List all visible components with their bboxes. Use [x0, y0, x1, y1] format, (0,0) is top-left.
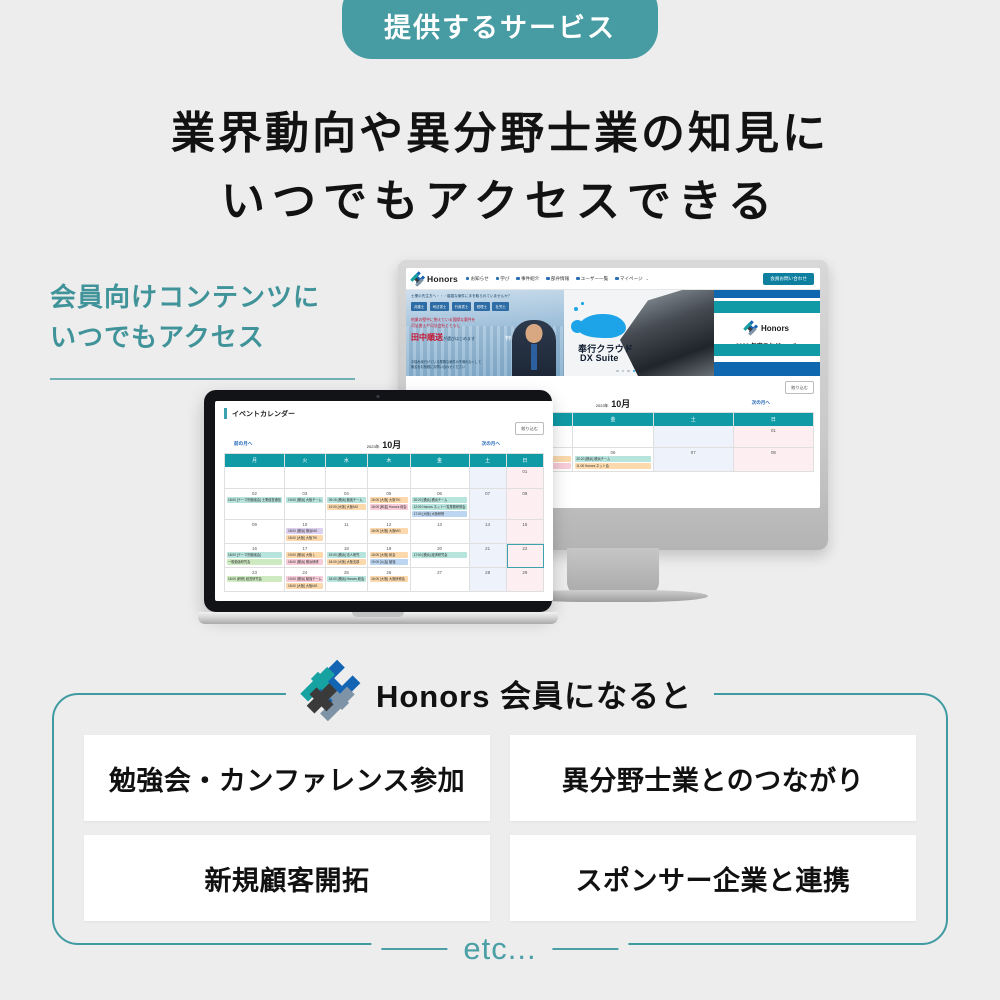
calendar-day-cell[interactable]: 1018:00 [横浜] 横浜MG18:00 [大阪] 大阪TKI	[285, 520, 326, 544]
kabuki-figure-photo	[620, 290, 714, 376]
webcam-icon	[377, 395, 380, 398]
calendar-day-cell[interactable]: 0620:20 [横浜] 横浜チーム12:00 Honors ネット一覧業務研修…	[411, 489, 470, 520]
calendar-day-number: 17	[286, 546, 323, 551]
membership-title-text: Honors 会員になると	[376, 671, 692, 716]
calendar-day-number: 21	[471, 546, 504, 551]
calendar-day-cell[interactable]: 07	[654, 448, 734, 472]
carousel-dots[interactable]	[616, 370, 635, 373]
calendar-event-chip[interactable]: 18:00 [大阪] 大阪支部	[327, 559, 365, 565]
calendar-day-cell[interactable]: 0319:00 [横浜] 大阪チーム	[285, 489, 326, 520]
calendar-day-cell[interactable]: 22	[507, 544, 544, 568]
cloud-logo-icon	[578, 314, 626, 338]
calendar-day-number: 28	[471, 570, 504, 575]
calendar-day-cell[interactable]: 13	[411, 520, 470, 544]
hero-panel-schedule[interactable]: Honors 2023 年度スケジュール	[714, 290, 820, 376]
calendar-event-chip[interactable]: 18:00 [テーマ別勉強会] 士業経営通信	[227, 497, 283, 503]
band-blue-top	[714, 290, 820, 298]
calendar-day-cell[interactable]: 2518:00 [横浜] Honors 総会	[326, 568, 368, 592]
calendar-day-cell[interactable]	[326, 467, 368, 489]
calendar-weekday-header: 土	[654, 413, 734, 426]
membership-heading: Honors 会員になると	[286, 668, 714, 718]
calendar-day-number: 02	[227, 491, 283, 496]
calendar-day-cell[interactable]: 0218:00 [テーマ別勉強会] 士業経営通信	[225, 489, 285, 520]
hero-panel-ad[interactable]: 奉行クラウド DX Suite	[564, 290, 714, 376]
hero-left-lead: 士業の先生方へ・・・複雑な案件に手を取られていませんか？	[411, 294, 511, 299]
calendar-weekday-header: 月	[225, 454, 285, 467]
chevron-down-icon: ⌄	[646, 276, 649, 281]
contact-button[interactable]: 会員お問い合わせ	[763, 273, 814, 285]
calendar-weekday-header: 日	[507, 454, 544, 467]
calendar-day-number: 15	[508, 522, 541, 527]
calendar-nav: 前の月へ 2023年 10月 次の月へ	[224, 438, 544, 450]
calendar-weekday-header: 水	[326, 454, 368, 467]
headline-line-1: 業界動向や異分野士業の知見に	[0, 100, 1000, 168]
calendar-month-label: 2023年 10月	[596, 397, 630, 410]
calendar-event-chip[interactable]: 17:00 [横浜] 経済研究会	[412, 552, 467, 558]
calendar-day-number: 16	[227, 546, 283, 551]
calendar-day-cell[interactable]	[654, 426, 734, 448]
laptop-notch	[352, 612, 404, 617]
calendar-month-label: 2023年 10月	[367, 438, 401, 451]
calendar-day-cell[interactable]: 2017:00 [横浜] 経済研究会	[411, 544, 470, 568]
calendar-day-cell[interactable]: 1218:00 [大阪] 大阪MG	[368, 520, 410, 544]
heading-accent-bar	[224, 408, 227, 419]
ad-title-line-2: DX Suite	[580, 353, 619, 363]
calendar-day-number: 06	[412, 491, 467, 496]
cloud-bubble-icon	[574, 307, 578, 311]
calendar-day-number: 09	[227, 522, 283, 527]
calendar-day-cell[interactable]	[470, 467, 507, 489]
calendar-weekday-header: 金	[411, 454, 470, 467]
calendar-day-cell[interactable]	[411, 467, 470, 489]
band-teal-top	[714, 301, 820, 313]
tag-sharoushi[interactable]: 社労士	[492, 302, 508, 311]
membership-benefits: 勉強会・カンファレンス参加 異分野士業とのつながり 新規顧客開拓 スポンサー企業…	[84, 735, 916, 921]
calendar-event-chip[interactable]: 18:00 [テーマ別勉強会]	[227, 552, 283, 558]
tag-bengoshi[interactable]: 弁護士	[411, 302, 427, 311]
page-title: 業界動向や異分野士業の知見に いつでもアクセスできる	[0, 100, 1000, 236]
laptop-calendar: 絞り込む 前の月へ 2023年 10月 次の月へ 月火水木金土日010218:0…	[215, 419, 553, 592]
honors-logo-icon	[745, 322, 757, 334]
calendar-event-chip[interactable]: 18:00 [大阪] 大阪研修会	[370, 576, 408, 582]
calendar-day-number: 10	[286, 522, 323, 527]
calendar-day-number: 25	[327, 570, 365, 575]
calendar-toolbar: 絞り込む	[224, 422, 544, 435]
calendar-day-cell[interactable]: 14	[470, 520, 507, 544]
honors-logo-icon	[308, 668, 362, 718]
calendar-day-cell[interactable]: 2419:00 [横浜] 勉強チーム18:00 [大阪] 大阪MG	[285, 568, 326, 592]
calendar-event-chip[interactable]: 18:00 [大阪] 総会	[370, 552, 408, 558]
nav-item-info[interactable]: 部弁情報	[546, 276, 569, 282]
calendar-day-cell[interactable]	[573, 426, 653, 448]
calendar-day-number: 20	[412, 546, 467, 551]
calendar-day-cell[interactable]: 1618:00 [テーマ別勉強会]一般勉強研究会	[225, 544, 285, 568]
benefit-card[interactable]: 勉強会・カンファレンス参加	[84, 735, 490, 821]
hero-row: 士業の先生方へ・・・複雑な案件に手を取られていませんか？ 弁護士 司法書士 行政…	[406, 290, 820, 376]
calendar-event-chip[interactable]: 19:00 [大阪] 大阪MG	[327, 504, 365, 510]
calendar-day-cell[interactable]: 08	[734, 448, 814, 472]
calendar-day-cell[interactable]: 2618:00 [大阪] 大阪研修会	[368, 568, 410, 592]
calendar-day-number: 24	[286, 570, 323, 575]
band-teal-bottom	[714, 344, 820, 356]
hero-left-footnote: お悩み深行けている業務な案件の不満れなくして 無名をお気軽にお問い合わせください	[411, 360, 481, 370]
calendar-day-cell[interactable]	[368, 467, 410, 489]
calendar-event-chip[interactable]: 18:00 [研修] 経営研究会	[227, 576, 283, 582]
calendar-day-cell[interactable]: 08	[507, 489, 544, 520]
site-logo[interactable]: Honors	[412, 273, 458, 285]
calendar-day-number: 01	[508, 469, 541, 474]
calendar-day-number: 19	[370, 546, 408, 551]
calendar-day-number: 23	[227, 570, 283, 575]
calendar-event-chip[interactable]: 18:00 [横浜] Honors 総会	[327, 576, 365, 582]
event-calendar-title: イベントカレンダー	[232, 409, 295, 419]
membership-brand: Honors	[376, 679, 491, 714]
calendar-day-number: 08	[735, 450, 811, 455]
etc-footer: etc...	[371, 927, 628, 971]
headline-line-2: いつでもアクセスできる	[0, 168, 1000, 236]
calendar-day-cell[interactable]: 28	[470, 568, 507, 592]
calendar-weekday-header: 土	[470, 454, 507, 467]
filter-button[interactable]: 絞り込む	[785, 381, 814, 394]
calendar-day-cell[interactable]: 09	[225, 520, 285, 544]
hero-left-red-text: 他業の壁中に抱えている国際な案件を 司法書士や司法会社とともに	[411, 318, 475, 329]
tag-shihoshoshi[interactable]: 司法書士	[430, 302, 450, 311]
calendar-event-chip[interactable]: 18:00 [大阪] 大阪TKI	[286, 535, 323, 541]
benefit-card[interactable]: 異分野士業とのつながり	[510, 735, 916, 821]
prev-month-link[interactable]: 前の月へ	[234, 441, 252, 447]
calendar-day-cell[interactable]: 01	[507, 467, 544, 489]
monitor-stand-neck	[567, 548, 659, 596]
calendar-event-chip[interactable]: 20:20 [横浜] 横浜チーム	[412, 497, 467, 503]
calendar-day-cell[interactable]: 1918:00 [大阪] 総会19:00 [公会] 勉強	[368, 544, 410, 568]
calendar-day-number: 06	[575, 450, 651, 455]
cloud-bubble-small-icon	[581, 302, 584, 305]
calendar-day-cell[interactable]: 15	[507, 520, 544, 544]
calendar-day-cell[interactable]	[285, 467, 326, 489]
device-mockups: Honors お知らせ 学び 事件紹介 部弁情報 ユーザー一覧 マイページ⌄ 会…	[0, 250, 1000, 650]
nav-item-learn[interactable]: 学び	[496, 276, 510, 282]
calendar-day-number: 13	[412, 522, 467, 527]
calendar-event-chip[interactable]: 09:15 [横浜] 勉強チーム	[327, 497, 365, 503]
promo-page: 提供するサービス 業界動向や異分野士業の知見に いつでもアクセスできる 会員向け…	[0, 0, 1000, 1000]
calendar-weekday-header: 火	[285, 454, 326, 467]
etc-line-left	[381, 948, 447, 950]
calendar-event-chip[interactable]: 19:00 [横浜] 大阪し	[286, 552, 323, 558]
calendar-day-cell[interactable]: 2318:00 [研修] 経営研究会	[225, 568, 285, 592]
calendar-event-chip[interactable]: 19:00 [横浜] 大阪チーム	[286, 497, 323, 503]
calendar-day-number: 05	[370, 491, 408, 496]
calendar-weekday-header: 日	[734, 413, 814, 426]
calendar-day-cell[interactable]: 0620:20 [横浜] 横浜チーム11:00 Honors ネット会	[573, 448, 653, 472]
calendar-day-number: 11	[327, 522, 365, 527]
hero-panel-lawyers[interactable]: 士業の先生方へ・・・複雑な案件に手を取られていませんか？ 弁護士 司法書士 行政…	[406, 290, 564, 376]
hero-left-name: 田中順送が選びはじめます	[411, 332, 475, 343]
membership-title-suffix: 会員になると	[490, 679, 692, 714]
filter-button[interactable]: 絞り込む	[515, 422, 544, 435]
calendar-day-number: 22	[508, 546, 541, 551]
tag-zeirishi[interactable]: 税理士	[474, 302, 490, 311]
nav-item-cases[interactable]: 事件紹介	[516, 276, 539, 282]
calendar-day-number: 03	[286, 491, 323, 496]
calendar-day-number: 08	[508, 491, 541, 496]
laptop-screen: イベントカレンダー 絞り込む 前の月へ 2023年 10月 次の月へ	[215, 401, 553, 601]
nav-item-news[interactable]: お知らせ	[466, 276, 489, 282]
calendar-event-chip[interactable]: 18:00 [横浜] 横浜研修	[286, 559, 323, 565]
calendar-weekday-header: 金	[573, 413, 653, 426]
calendar-day-cell[interactable]: 1719:00 [横浜] 大阪し18:00 [横浜] 横浜研修	[285, 544, 326, 568]
nav-item-mypage[interactable]: マイページ⌄	[615, 276, 649, 282]
calendar-event-chip[interactable]: 12:00 Honors ネット一覧業務研修会	[412, 504, 467, 510]
tag-gyoseishoshi[interactable]: 行政書士	[452, 302, 472, 311]
calendar-day-number: 07	[655, 450, 731, 455]
calendar-event-chip[interactable]: 20:20 [横浜] 横浜チーム	[575, 456, 651, 462]
band-blue-bottom	[714, 362, 820, 376]
calendar-event-chip[interactable]: 18:00 [大阪] 大阪MG	[370, 528, 408, 534]
calendar-day-cell[interactable]	[225, 467, 285, 489]
calendar-day-cell[interactable]: 29	[507, 568, 544, 592]
calendar-event-chip[interactable]: 19:00 [横浜] 勉強チーム	[286, 576, 323, 582]
section-badge: 提供するサービス	[342, 0, 658, 59]
calendar-event-chip[interactable]: 17:00 [大阪] 大阪研修	[412, 511, 467, 517]
next-month-link[interactable]: 次の月へ	[752, 400, 770, 406]
calendar-day-number: 01	[735, 428, 811, 433]
benefit-card[interactable]: 新規顧客開拓	[84, 835, 490, 921]
calendar-day-cell[interactable]: 0409:15 [横浜] 勉強チーム19:00 [大阪] 大阪MG	[326, 489, 368, 520]
honors-logo-icon	[412, 273, 424, 285]
calendar-event-chip[interactable]: 11:00 Honors ネット会	[575, 463, 651, 469]
laptop: イベントカレンダー 絞り込む 前の月へ 2023年 10月 次の月へ	[198, 390, 558, 640]
calendar-event-chip[interactable]: 18:00 [横浜] 横浜MG	[286, 528, 323, 534]
schedule-logo-text: Honors	[761, 324, 789, 333]
calendar-day-cell[interactable]: 0518:00 [大阪] 大阪TKI18:00 [和金] Honors 総会	[368, 489, 410, 520]
calendar-day-number: 04	[327, 491, 365, 496]
calendar-day-number: 27	[412, 570, 467, 575]
benefit-card[interactable]: スポンサー企業と連携	[510, 835, 916, 921]
calendar-day-cell[interactable]: 07	[470, 489, 507, 520]
calendar-day-number: 14	[471, 522, 504, 527]
calendar-day-cell[interactable]: 01	[734, 426, 814, 448]
calendar-weekday-header: 木	[368, 454, 410, 467]
calendar-event-chip[interactable]: 19:00 [公会] 勉強	[370, 559, 408, 565]
site-nav: お知らせ 学び 事件紹介 部弁情報 ユーザー一覧 マイページ⌄	[466, 276, 649, 282]
laptop-lid: イベントカレンダー 絞り込む 前の月へ 2023年 10月 次の月へ	[204, 390, 552, 612]
calendar-event-chip[interactable]: 18:00 [大阪] 大阪TKI	[370, 497, 408, 503]
calendar-day-number: 18	[327, 546, 365, 551]
profession-tags: 弁護士 司法書士 行政書士 税理士 社労士	[411, 302, 509, 311]
calendar-event-chip[interactable]: 19:00 [横浜] 法人研究	[327, 552, 365, 558]
etc-line-right	[553, 948, 619, 950]
event-calendar-heading: イベントカレンダー	[215, 401, 553, 419]
calendar-event-chip[interactable]: 一般勉強研究会	[227, 559, 283, 565]
calendar-event-chip[interactable]: 18:00 [大阪] 大阪MG	[286, 583, 323, 589]
site-logo-text: Honors	[427, 274, 458, 284]
site-header: Honors お知らせ 学び 事件紹介 部弁情報 ユーザー一覧 マイページ⌄ 会…	[406, 268, 820, 290]
etc-label: etc...	[463, 931, 536, 967]
calendar-day-number: 29	[508, 570, 541, 575]
calendar-day-number: 12	[370, 522, 408, 527]
quote-mark-icon: ❞	[504, 333, 512, 350]
calendar-day-number: 26	[370, 570, 408, 575]
nav-item-users[interactable]: ユーザー一覧	[576, 276, 608, 282]
calendar-day-number: 07	[471, 491, 504, 496]
calendar-grid: 月火水木金土日010218:00 [テーマ別勉強会] 士業経営通信0319:00…	[224, 453, 544, 592]
next-month-link[interactable]: 次の月へ	[482, 441, 500, 447]
calendar-day-cell[interactable]: 21	[470, 544, 507, 568]
calendar-day-cell[interactable]: 11	[326, 520, 368, 544]
calendar-event-chip[interactable]: 18:00 [和金] Honors 総会	[370, 504, 408, 510]
calendar-day-cell[interactable]: 27	[411, 568, 470, 592]
calendar-day-cell[interactable]: 1819:00 [横浜] 法人研究18:00 [大阪] 大阪支部	[326, 544, 368, 568]
businessman-photo	[512, 320, 556, 376]
